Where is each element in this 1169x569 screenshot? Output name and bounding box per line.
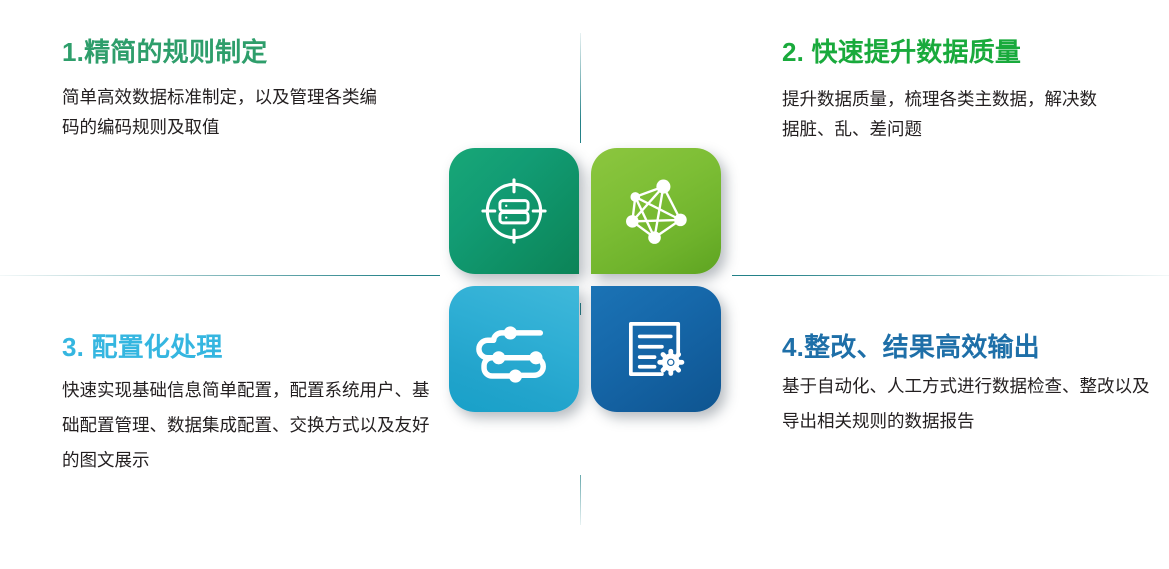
quadrant-4: 4.整改、结果高效输出 基于自动化、人工方式进行数据检查、整改以及导出相关规则的… — [782, 333, 1152, 439]
workflow-path-icon — [476, 315, 552, 383]
quadrant-1: 1.精简的规则制定 简单高效数据标准制定，以及管理各类编码的编码规则及取值 — [62, 38, 392, 142]
quadrant-4-title: 4.整改、结果高效输出 — [782, 333, 1152, 363]
icon-tile-cluster — [449, 148, 721, 412]
divider-horizontal-left — [0, 275, 440, 276]
tile-output-report[interactable] — [591, 286, 721, 412]
network-graph-icon — [619, 174, 693, 248]
quadrant-4-body: 基于自动化、人工方式进行数据检查、整改以及导出相关规则的数据报告 — [782, 369, 1152, 439]
quadrant-2-body: 提升数据质量，梳理各类主数据，解决数据脏、乱、差问题 — [782, 84, 1112, 144]
tile-rule-definition[interactable] — [449, 148, 579, 274]
quadrant-3-body: 快速实现基础信息简单配置，配置系统用户、基础配置管理、数据集成配置、交换方式以及… — [62, 373, 442, 478]
infographic-canvas: 1.精简的规则制定 简单高效数据标准制定，以及管理各类编码的编码规则及取值 2.… — [0, 0, 1169, 569]
target-database-icon — [477, 174, 551, 248]
quadrant-3-title: 3. 配置化处理 — [62, 333, 442, 363]
quadrant-1-title: 1.精简的规则制定 — [62, 38, 392, 68]
document-gear-icon — [619, 312, 693, 386]
tile-configuration[interactable] — [449, 286, 579, 412]
quadrant-3: 3. 配置化处理 快速实现基础信息简单配置，配置系统用户、基础配置管理、数据集成… — [62, 333, 442, 478]
quadrant-2: 2. 快速提升数据质量 提升数据质量，梳理各类主数据，解决数据脏、乱、差问题 — [782, 38, 1112, 144]
tile-data-quality[interactable] — [591, 148, 721, 274]
quadrant-2-title: 2. 快速提升数据质量 — [782, 38, 1112, 68]
quadrant-1-body: 简单高效数据标准制定，以及管理各类编码的编码规则及取值 — [62, 82, 392, 142]
divider-horizontal-right — [732, 275, 1169, 276]
